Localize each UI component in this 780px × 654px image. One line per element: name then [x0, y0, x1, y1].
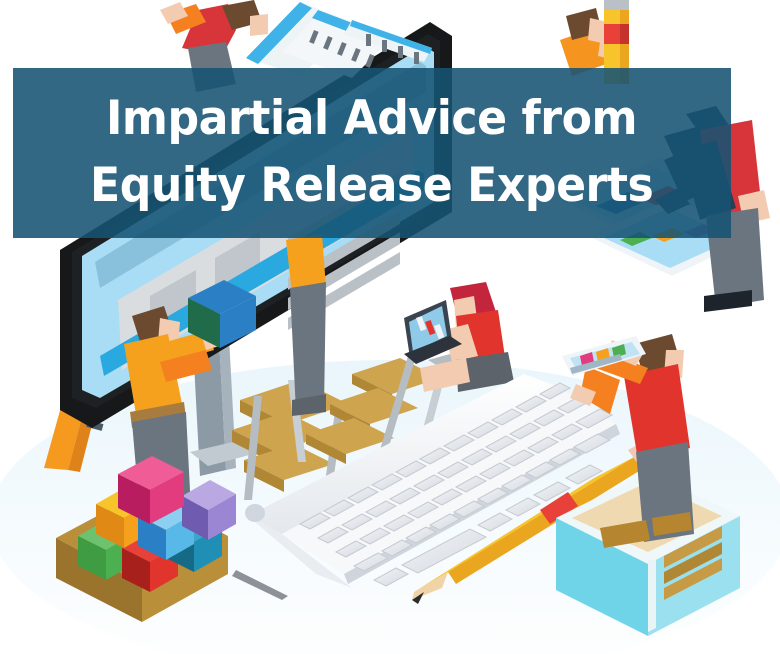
keyboard-cylinder — [245, 504, 265, 522]
headline-line-1: Impartial Advice from — [106, 86, 637, 153]
poster-canvas: Impartial Advice from Equity Release Exp… — [0, 0, 780, 654]
protractor-person-face — [250, 14, 268, 36]
pencil-top-band-shade — [620, 24, 629, 44]
headline-banner: Impartial Advice from Equity Release Exp… — [13, 68, 731, 238]
blue-box-corner — [648, 560, 656, 632]
pencil-top-ferrule — [604, 0, 629, 10]
ladder-person-pants — [290, 282, 326, 412]
pencil-top-band — [604, 24, 620, 44]
headline-line-2: Equity Release Experts — [90, 153, 653, 220]
